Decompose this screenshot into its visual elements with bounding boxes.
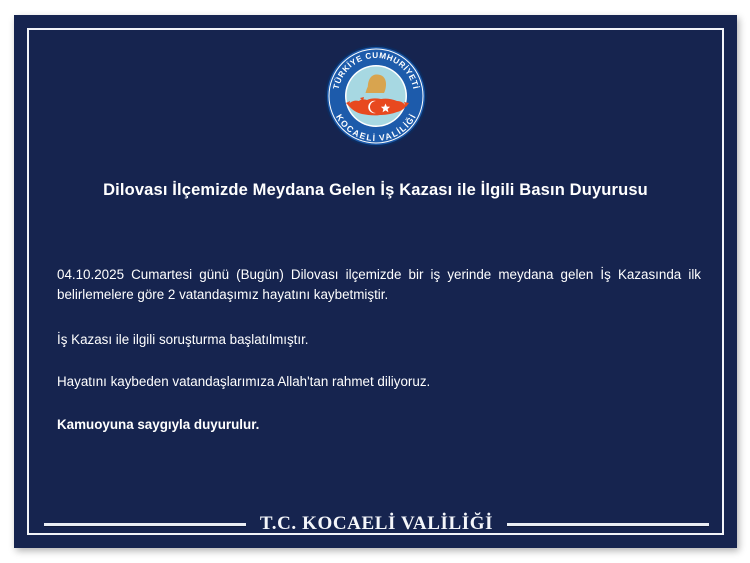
announcement-paragraph: 04.10.2025 Cumartesi günü (Bugün) Dilova…	[57, 265, 701, 306]
announcement-body: 04.10.2025 Cumartesi günü (Bugün) Dilova…	[57, 265, 701, 435]
announcement-closing-statement: Kamuoyuna saygıyla duyurulur.	[57, 415, 701, 435]
announcement-card: TÜRKİYE CUMHURİYETİ KOCAELİ VALİLİĞİ Dil…	[14, 15, 737, 548]
footer-organization-name: T.C. KOCAELİ VALİLİĞİ	[260, 513, 493, 535]
card-footer: T.C. KOCAELİ VALİLİĞİ	[44, 513, 709, 535]
announcement-paragraph: İş Kazası ile ilgili soruşturma başlatıl…	[57, 330, 701, 350]
footer-rule-right	[507, 523, 709, 526]
announcement-paragraph: Hayatını kaybeden vatandaşlarımıza Allah…	[57, 372, 701, 392]
footer-rule-left	[44, 523, 246, 526]
kocaeli-valiligi-emblem: TÜRKİYE CUMHURİYETİ KOCAELİ VALİLİĞİ	[324, 44, 428, 148]
announcement-page: TÜRKİYE CUMHURİYETİ KOCAELİ VALİLİĞİ Dil…	[0, 0, 750, 563]
announcement-title: Dilovası İlçemizde Meydana Gelen İş Kaza…	[54, 180, 697, 201]
emblem-container: TÜRKİYE CUMHURİYETİ KOCAELİ VALİLİĞİ	[14, 44, 737, 148]
